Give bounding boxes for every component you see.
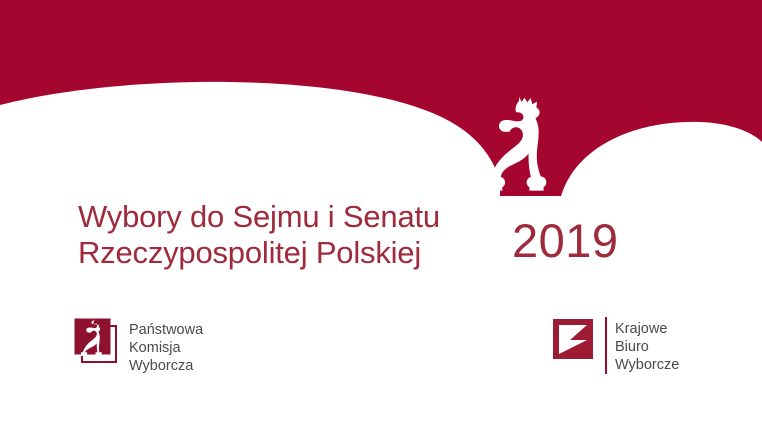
kbw-logo-line-1: Krajowe	[615, 320, 679, 338]
election-year: 2019	[512, 215, 619, 267]
pkw-logo-line-1: Państwowa	[129, 321, 203, 339]
kbw-logo-text: Krajowe Biuro Wyborcze	[605, 317, 679, 374]
election-banner: Wybory do Sejmu i Senatu Rzeczypospolite…	[0, 0, 762, 429]
page-title: Wybory do Sejmu i Senatu Rzeczypospolite…	[78, 199, 498, 271]
title-line-1: Wybory do Sejmu i Senatu	[78, 199, 498, 235]
kbw-emblem-icon	[552, 317, 598, 367]
kbw-logo-line-2: Biuro	[615, 338, 679, 356]
pkw-logo-line-3: Wyborcza	[129, 357, 203, 375]
pkw-emblem-icon	[74, 318, 120, 368]
kbw-logo-line-3: Wyborcze	[615, 356, 679, 374]
pkw-logo-line-2: Komisja	[129, 339, 203, 357]
logo-krajowe-biuro-wyborcze: Krajowe Biuro Wyborcze	[552, 317, 679, 374]
pkw-logo-text: Państwowa Komisja Wyborcza	[129, 318, 203, 375]
logo-panstwowa-komisja-wyborcza: Państwowa Komisja Wyborcza	[74, 318, 203, 375]
title-line-2: Rzeczypospolitej Polskiej	[78, 235, 498, 271]
